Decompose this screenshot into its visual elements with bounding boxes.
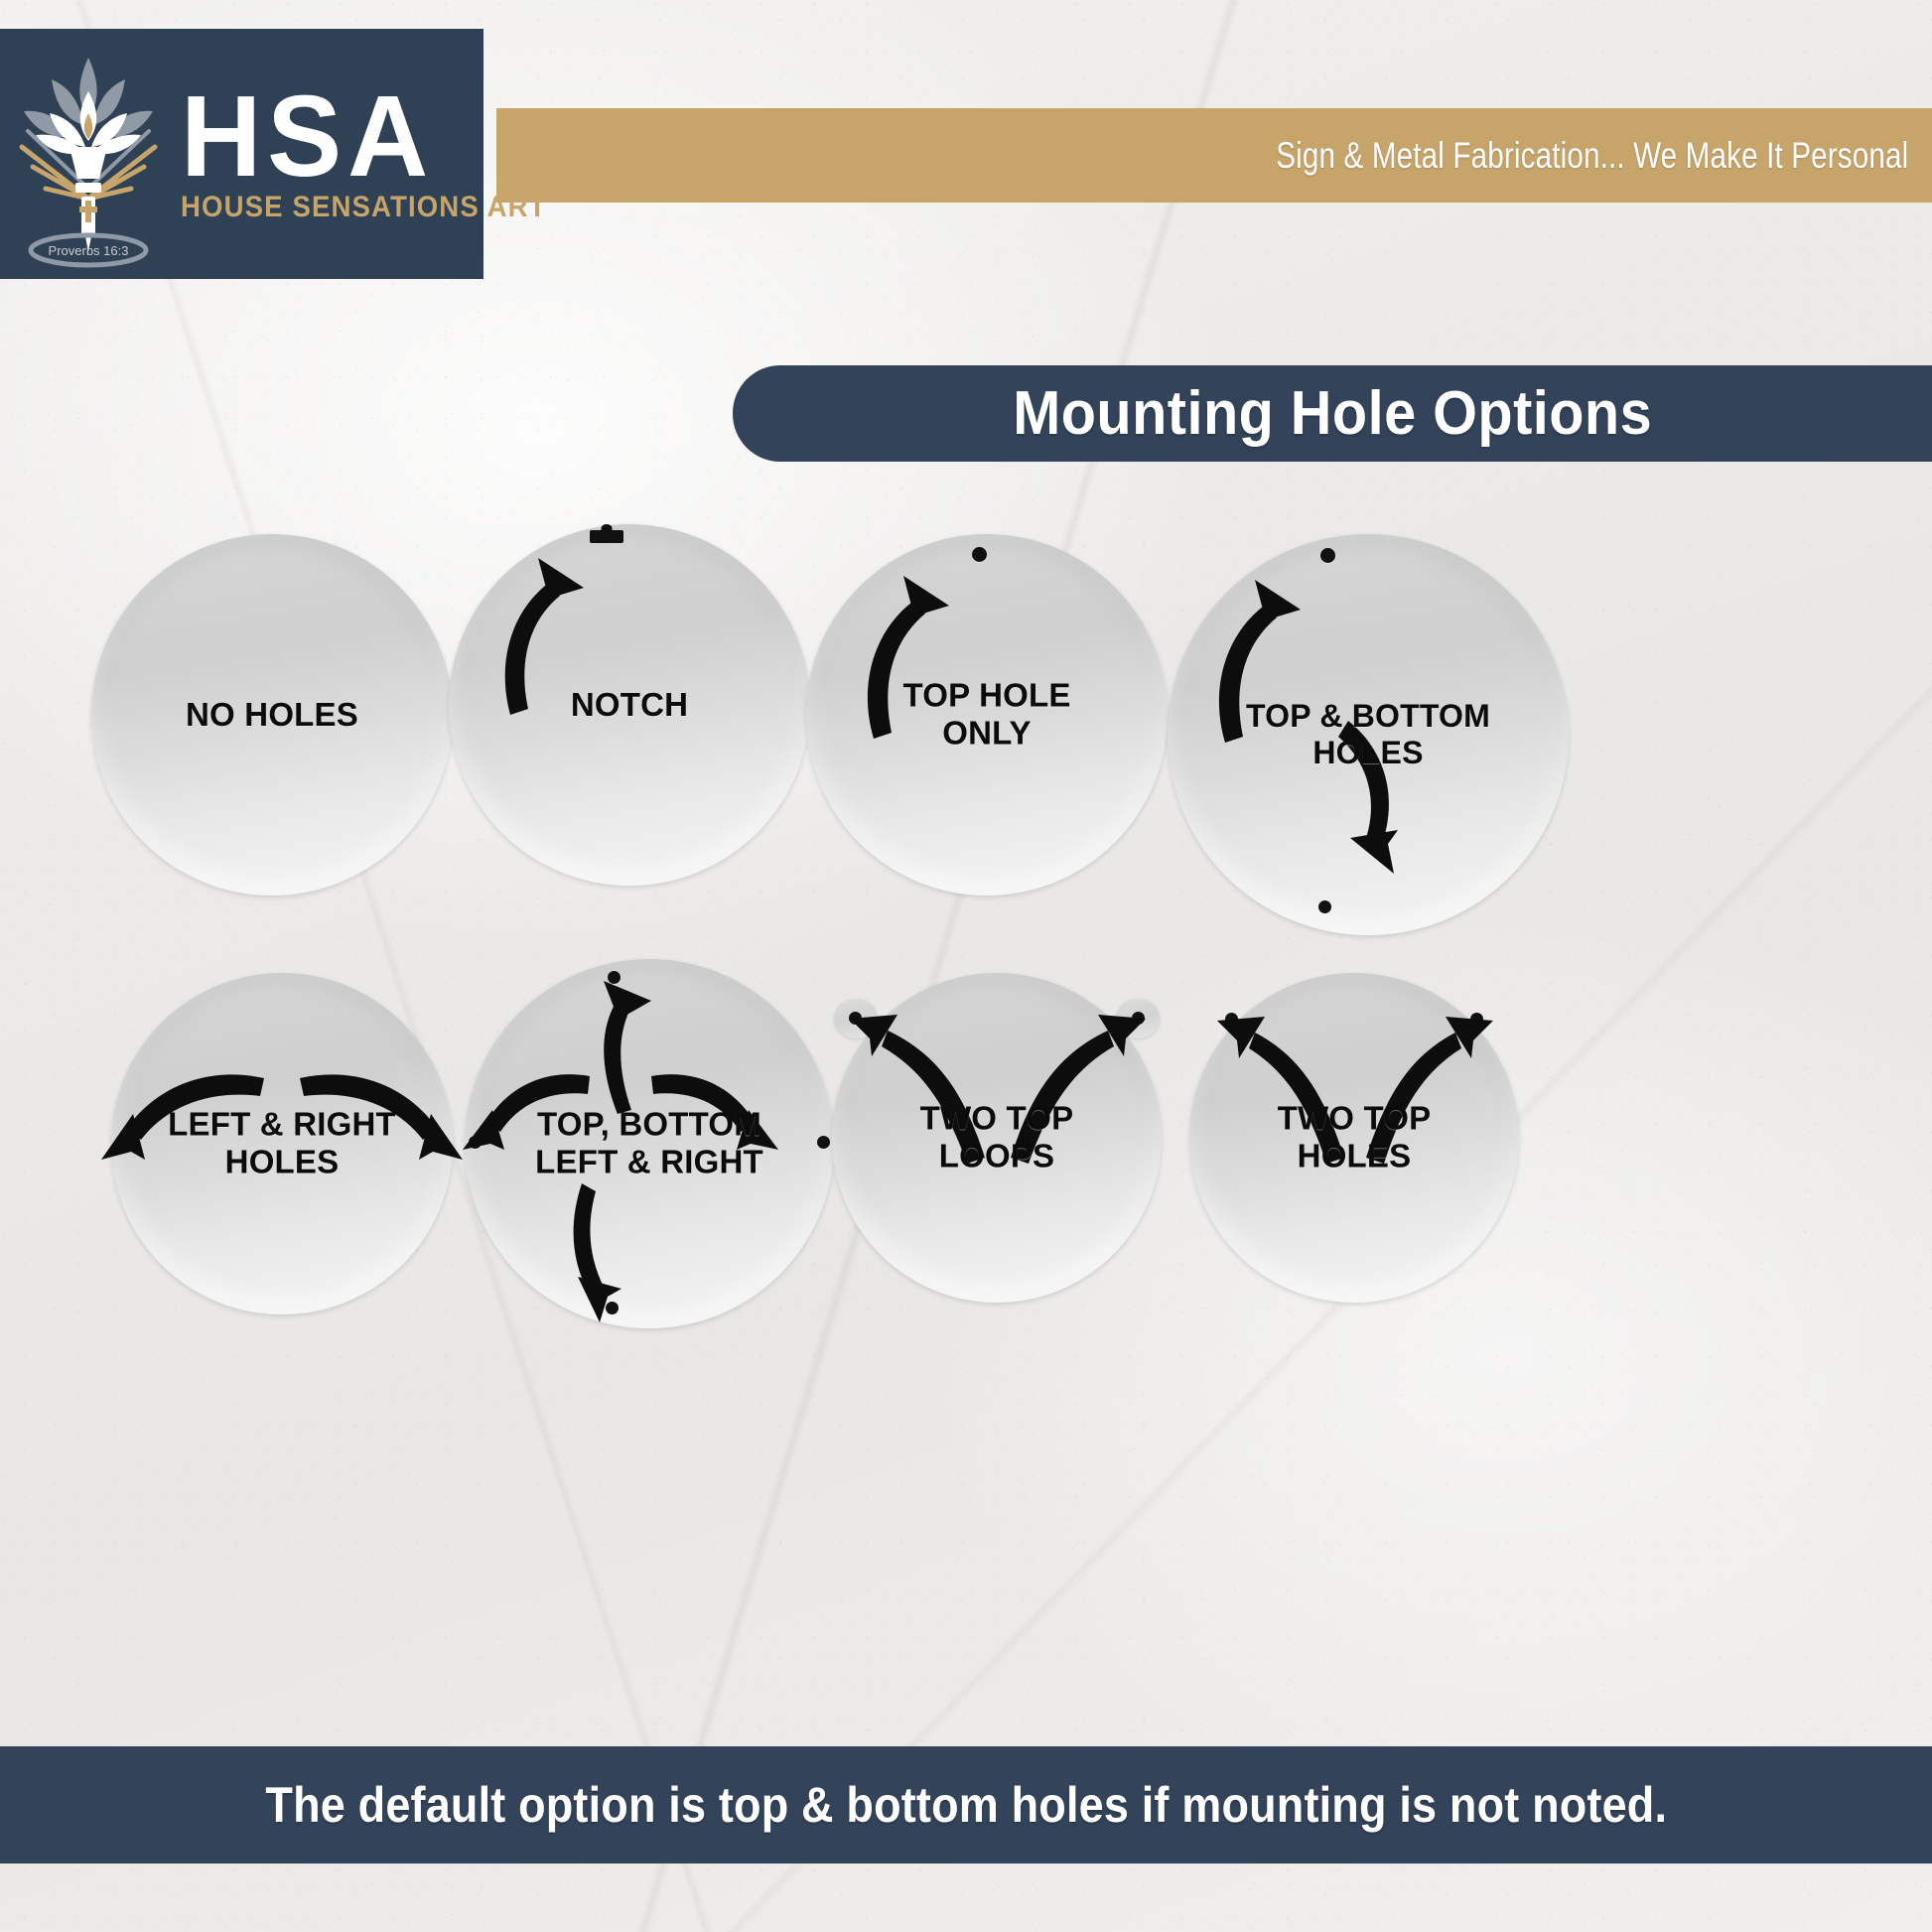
option-notch[interactable]: NOTCH	[449, 524, 810, 886]
option-two-top-holes[interactable]: TWO TOP HOLES	[1189, 973, 1519, 1303]
notch-cutout-icon	[590, 530, 623, 543]
option-label: NO HOLES	[91, 696, 453, 734]
option-top-hole-only[interactable]: TOP HOLE ONLY	[806, 534, 1168, 896]
footer-note-banner: The default option is top & bottom holes…	[0, 1746, 1932, 1863]
option-no-holes[interactable]: NO HOLES	[91, 534, 453, 896]
brand-logo-block: Proverbs 16:3 HSA HOUSE SENSATIONS ART	[0, 29, 483, 279]
brand-initials: HSA	[181, 83, 567, 190]
mounting-options-grid: NO HOLES NOTCH	[0, 516, 1932, 1362]
option-label: LEFT & RIGHT HOLES	[111, 1106, 453, 1182]
hole-top	[1320, 548, 1335, 563]
option-top-bottom-left-right[interactable]: TOP, BOTTOM LEFT & RIGHT	[465, 959, 834, 1328]
option-label: TWO TOP LOOPS	[832, 1100, 1162, 1176]
option-label: TOP HOLE ONLY	[806, 677, 1168, 754]
option-label: TWO TOP HOLES	[1189, 1100, 1519, 1176]
hole-bottom	[606, 1302, 619, 1314]
brand-wordmark: HSA HOUSE SENSATIONS ART	[177, 83, 589, 225]
brand-tagline: Sign & Metal Fabrication... We Make It P…	[1276, 135, 1908, 177]
hole-loop-right	[1132, 1012, 1145, 1025]
option-left-and-right-holes[interactable]: LEFT & RIGHT HOLES	[111, 973, 453, 1314]
hole-loop-left	[849, 1012, 862, 1025]
option-two-top-loops[interactable]: TWO TOP LOOPS	[832, 973, 1162, 1303]
options-row-top: NO HOLES NOTCH	[0, 516, 1932, 913]
hole-top-left	[1225, 1013, 1238, 1026]
poster-canvas: Sign & Metal Fabrication... We Make It P…	[0, 0, 1932, 1932]
options-row-bottom: LEFT & RIGHT HOLES	[0, 965, 1932, 1362]
option-top-and-bottom-holes[interactable]: TOP & BOTTOM HOLES	[1168, 534, 1569, 935]
torch-lotus-logo-icon: Proverbs 16:3	[0, 40, 177, 268]
option-label: TOP, BOTTOM LEFT & RIGHT	[465, 1106, 834, 1182]
hole-bottom	[1318, 900, 1331, 913]
hole-top	[608, 971, 621, 984]
hole-top	[972, 547, 987, 562]
option-label: NOTCH	[449, 686, 810, 724]
option-label: TOP & BOTTOM HOLES	[1168, 698, 1569, 771]
logo-verse-text: Proverbs 16:3	[49, 243, 129, 258]
footer-note: The default option is top & bottom holes…	[265, 1776, 1667, 1834]
page-title: Mounting Hole Options	[1013, 378, 1652, 449]
page-title-banner: Mounting Hole Options	[733, 365, 1932, 462]
hole-top-right	[1470, 1013, 1483, 1026]
header-gold-band: Sign & Metal Fabrication... We Make It P…	[496, 108, 1932, 203]
brand-full-name: HOUSE SENSATIONS ART	[181, 191, 547, 224]
